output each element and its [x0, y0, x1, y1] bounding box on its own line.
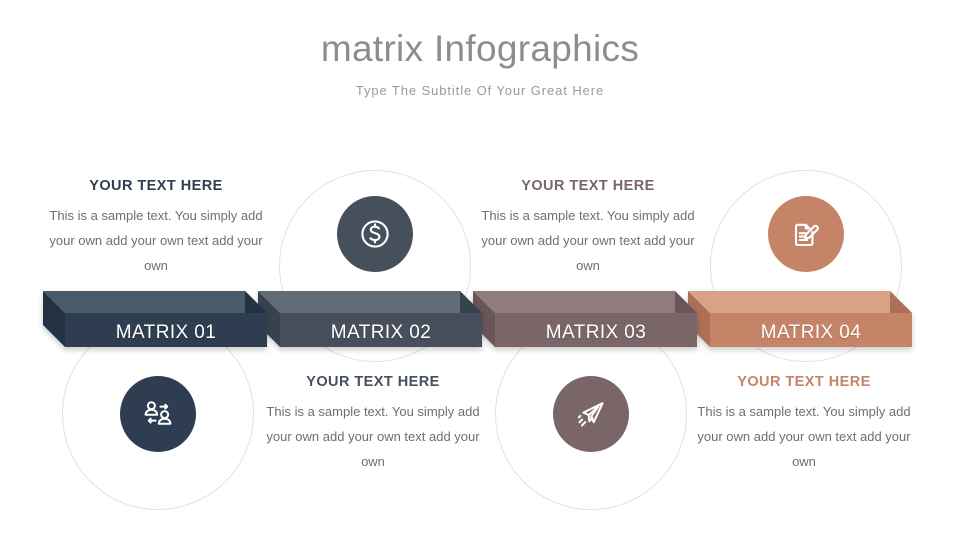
body-step-2: This is a sample text. You simply add yo…: [257, 399, 489, 474]
text-block-step-2: YOUR TEXT HERE This is a sample text. Yo…: [257, 374, 489, 474]
bar-label-step-2: MATRIX 02: [280, 322, 482, 344]
icon-disc-step-3[interactable]: [553, 376, 629, 452]
user-exchange-icon: [137, 393, 179, 435]
bar-label-step-4: MATRIX 04: [710, 322, 912, 344]
infographic-canvas: matrix Infographics Type The Subtitle Of…: [0, 0, 960, 540]
body-step-3: This is a sample text. You simply add yo…: [472, 203, 704, 278]
heading-step-1: YOUR TEXT HERE: [40, 178, 272, 194]
page-subtitle: Type The Subtitle Of Your Great Here: [0, 83, 960, 98]
text-block-step-3: YOUR TEXT HERE This is a sample text. Yo…: [472, 178, 704, 278]
heading-step-3: YOUR TEXT HERE: [472, 178, 704, 194]
body-step-1: This is a sample text. You simply add yo…: [40, 203, 272, 278]
heading-step-4: YOUR TEXT HERE: [688, 374, 920, 390]
text-block-step-1: YOUR TEXT HERE This is a sample text. Yo…: [40, 178, 272, 278]
page-title: matrix Infographics: [0, 28, 960, 70]
icon-disc-step-4[interactable]: [768, 196, 844, 272]
text-block-step-4: YOUR TEXT HERE This is a sample text. Yo…: [688, 374, 920, 474]
bar-label-step-1: MATRIX 01: [65, 322, 267, 344]
icon-disc-step-2[interactable]: [337, 196, 413, 272]
dollar-circle-icon: [354, 213, 396, 255]
bar-label-step-3: MATRIX 03: [495, 322, 697, 344]
icon-disc-step-1[interactable]: [120, 376, 196, 452]
document-pencil-icon: [785, 213, 827, 255]
body-step-4: This is a sample text. You simply add yo…: [688, 399, 920, 474]
heading-step-2: YOUR TEXT HERE: [257, 374, 489, 390]
paper-plane-icon: [570, 393, 612, 435]
